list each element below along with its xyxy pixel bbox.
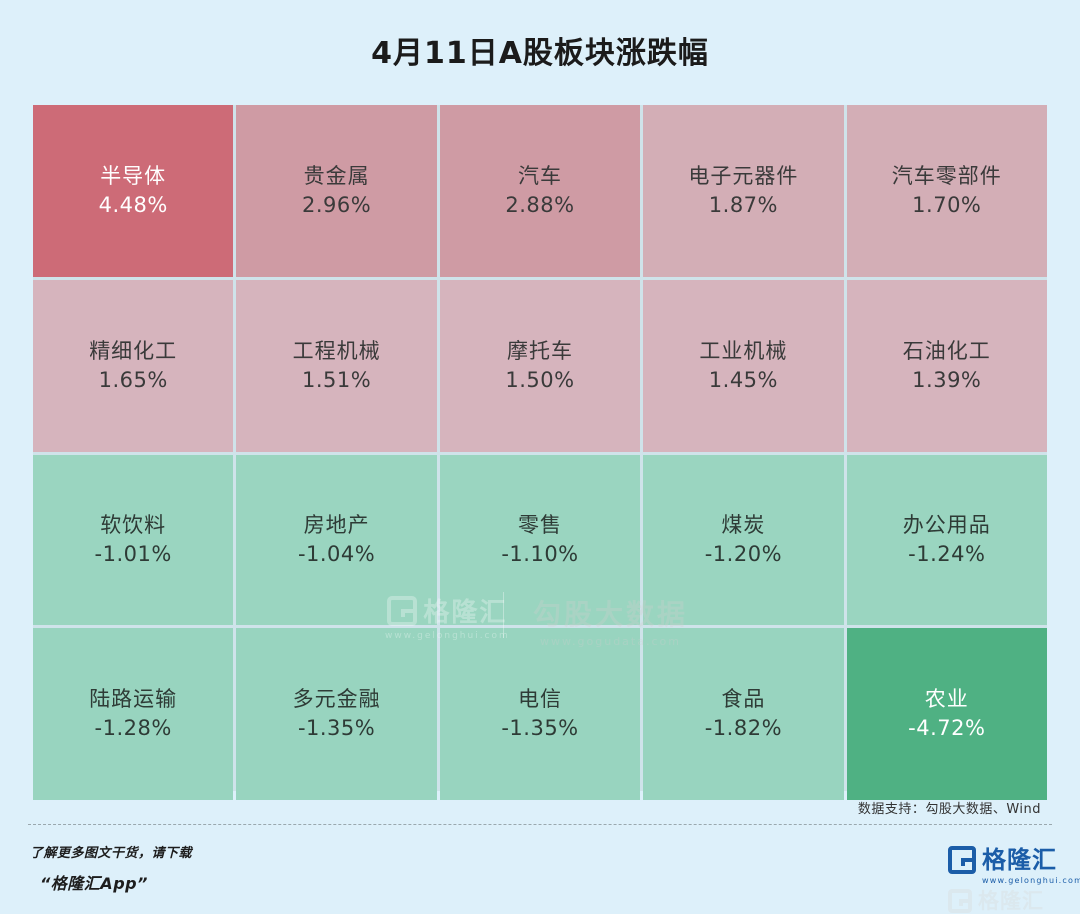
- heatmap-cell[interactable]: 房地产-1.04%: [236, 455, 436, 625]
- heatmap-cell[interactable]: 工业机械1.45%: [643, 280, 843, 452]
- heatmap-cell-name: 石油化工: [903, 337, 991, 365]
- heatmap-cell-name: 半导体: [100, 162, 166, 190]
- data-source-label: 数据支持：勾股大数据、Wind: [858, 798, 1041, 817]
- heatmap-cell[interactable]: 多元金融-1.35%: [236, 628, 436, 800]
- heatmap-cell-name: 多元金融: [293, 685, 381, 713]
- heatmap-cell[interactable]: 摩托车1.50%: [440, 280, 640, 452]
- heatmap-cell-name: 贵金属: [304, 162, 370, 190]
- heatmap-cell[interactable]: 农业-4.72%: [847, 628, 1047, 800]
- heatmap-cell[interactable]: 石油化工1.39%: [847, 280, 1047, 452]
- heatmap-cell-value: 2.96%: [302, 190, 371, 220]
- heatmap-cell-name: 摩托车: [507, 337, 573, 365]
- heatmap-cell[interactable]: 汽车零部件1.70%: [847, 105, 1047, 277]
- app-promo-line1: 了解更多图文干货，请下载: [30, 842, 192, 861]
- heatmap-cell[interactable]: 精细化工1.65%: [33, 280, 233, 452]
- heatmap-cell[interactable]: 电信-1.35%: [440, 628, 640, 800]
- brand-name-label: 格隆汇: [982, 848, 1057, 872]
- heatmap-grid: 半导体4.48%贵金属2.96%汽车2.88%电子元器件1.87%汽车零部件1.…: [33, 105, 1047, 791]
- heatmap-cell-value: -1.10%: [501, 539, 578, 569]
- footer-divider: [28, 824, 1052, 825]
- heatmap-cell-value: -4.72%: [908, 713, 985, 743]
- heatmap-cell-value: -1.01%: [95, 539, 172, 569]
- heatmap-cell-value: 1.65%: [99, 365, 168, 395]
- heatmap-cell-name: 电信: [518, 685, 562, 713]
- heatmap-cell-value: 1.87%: [709, 190, 778, 220]
- heatmap-cell[interactable]: 贵金属2.96%: [236, 105, 436, 277]
- gelonghui-logo-icon-ghost: [948, 889, 972, 913]
- heatmap-cell-name: 精细化工: [89, 337, 177, 365]
- heatmap-cell-value: -1.04%: [298, 539, 375, 569]
- heatmap-cell-name: 工业机械: [699, 337, 787, 365]
- app-promo: 了解更多图文干货，请下载 “格隆汇App”: [30, 842, 192, 894]
- heatmap-cell-value: 1.51%: [302, 365, 371, 395]
- heatmap-container: 半导体4.48%贵金属2.96%汽车2.88%电子元器件1.87%汽车零部件1.…: [33, 105, 1047, 791]
- infographic-page: 4月11日A股板块涨跌幅 半导体4.48%贵金属2.96%汽车2.88%电子元器…: [0, 0, 1080, 914]
- brand-logo: 格隆汇 www.gelonghui.com 格隆汇: [948, 846, 1070, 908]
- heatmap-cell[interactable]: 陆路运输-1.28%: [33, 628, 233, 800]
- brand-url-label: www.gelonghui.com: [982, 876, 1070, 885]
- heatmap-cell-value: -1.35%: [501, 713, 578, 743]
- heatmap-cell-name: 电子元器件: [688, 162, 798, 190]
- heatmap-cell-value: -1.82%: [705, 713, 782, 743]
- heatmap-cell-name: 汽车: [518, 162, 562, 190]
- heatmap-cell-name: 零售: [518, 511, 562, 539]
- heatmap-cell[interactable]: 软饮料-1.01%: [33, 455, 233, 625]
- heatmap-cell-value: 1.50%: [505, 365, 574, 395]
- heatmap-cell-name: 陆路运输: [89, 685, 177, 713]
- heatmap-cell-value: -1.35%: [298, 713, 375, 743]
- heatmap-cell-value: -1.24%: [908, 539, 985, 569]
- heatmap-cell-name: 煤炭: [721, 511, 765, 539]
- heatmap-cell[interactable]: 煤炭-1.20%: [643, 455, 843, 625]
- heatmap-cell-name: 食品: [721, 685, 765, 713]
- heatmap-cell-name: 房地产: [304, 511, 370, 539]
- heatmap-cell[interactable]: 工程机械1.51%: [236, 280, 436, 452]
- heatmap-cell-name: 汽车零部件: [892, 162, 1002, 190]
- page-title: 4月11日A股板块涨跌幅: [0, 0, 1080, 72]
- heatmap-cell[interactable]: 汽车2.88%: [440, 105, 640, 277]
- heatmap-cell-value: 1.45%: [709, 365, 778, 395]
- heatmap-cell-value: 2.88%: [505, 190, 574, 220]
- heatmap-cell-value: -1.20%: [705, 539, 782, 569]
- heatmap-cell[interactable]: 办公用品-1.24%: [847, 455, 1047, 625]
- heatmap-cell-name: 农业: [925, 685, 969, 713]
- heatmap-cell-value: 1.39%: [912, 365, 981, 395]
- heatmap-cell[interactable]: 零售-1.10%: [440, 455, 640, 625]
- brand-logo-ghost: 格隆汇: [948, 889, 1070, 913]
- heatmap-cell-name: 办公用品: [903, 511, 991, 539]
- heatmap-cell-value: -1.28%: [95, 713, 172, 743]
- heatmap-cell-name: 软饮料: [100, 511, 166, 539]
- heatmap-cell[interactable]: 食品-1.82%: [643, 628, 843, 800]
- brand-name-label-ghost: 格隆汇: [978, 891, 1044, 912]
- gelonghui-logo-icon: [948, 846, 976, 874]
- heatmap-cell-name: 工程机械: [293, 337, 381, 365]
- heatmap-cell[interactable]: 电子元器件1.87%: [643, 105, 843, 277]
- heatmap-cell-value: 1.70%: [912, 190, 981, 220]
- app-promo-line2: “格隆汇App”: [40, 870, 192, 894]
- heatmap-cell[interactable]: 半导体4.48%: [33, 105, 233, 277]
- heatmap-cell-value: 4.48%: [99, 190, 168, 220]
